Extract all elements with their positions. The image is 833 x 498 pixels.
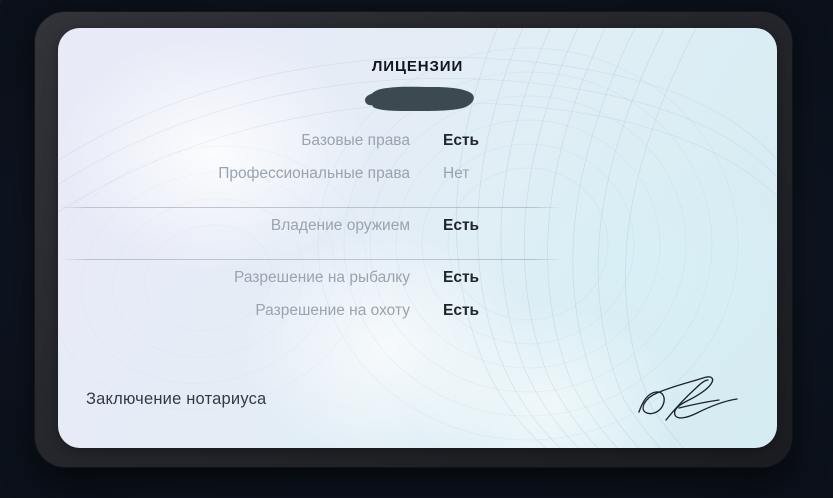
license-row-value: Есть — [443, 302, 479, 320]
license-row: Разрешение на рыбалкуЕсть — [58, 269, 563, 302]
license-row-value: Есть — [443, 217, 479, 235]
license-row: Разрешение на охотуЕсть — [58, 302, 563, 335]
license-row-label: Владение оружием — [58, 217, 410, 235]
row-divider — [58, 207, 563, 208]
license-row-label: Разрешение на охоту — [58, 302, 410, 320]
row-divider — [58, 259, 563, 260]
notary-signature — [633, 366, 763, 428]
license-row-value: Есть — [443, 132, 479, 150]
license-card: ЛИЦЕНЗИИ Базовые праваЕстьПрофессиональн… — [58, 28, 777, 448]
license-rows: Базовые праваЕстьПрофессиональные праваН… — [58, 132, 563, 335]
license-row-label: Разрешение на рыбалку — [58, 269, 410, 287]
notary-conclusion-label: Заключение нотариуса — [86, 390, 266, 409]
license-row-value: Есть — [443, 269, 479, 287]
redacted-name-blob — [363, 84, 477, 114]
license-row-label: Профессиональные права — [58, 165, 410, 183]
screen-background: ЛИЦЕНЗИИ Базовые праваЕстьПрофессиональн… — [0, 0, 833, 498]
license-row: Базовые праваЕсть — [58, 132, 563, 165]
card-title: ЛИЦЕНЗИИ — [58, 58, 777, 75]
license-row: Владение оружиемЕсть — [58, 217, 563, 250]
license-row-value: Нет — [443, 165, 469, 183]
license-row-label: Базовые права — [58, 132, 410, 150]
license-row: Профессиональные праваНет — [58, 165, 563, 198]
